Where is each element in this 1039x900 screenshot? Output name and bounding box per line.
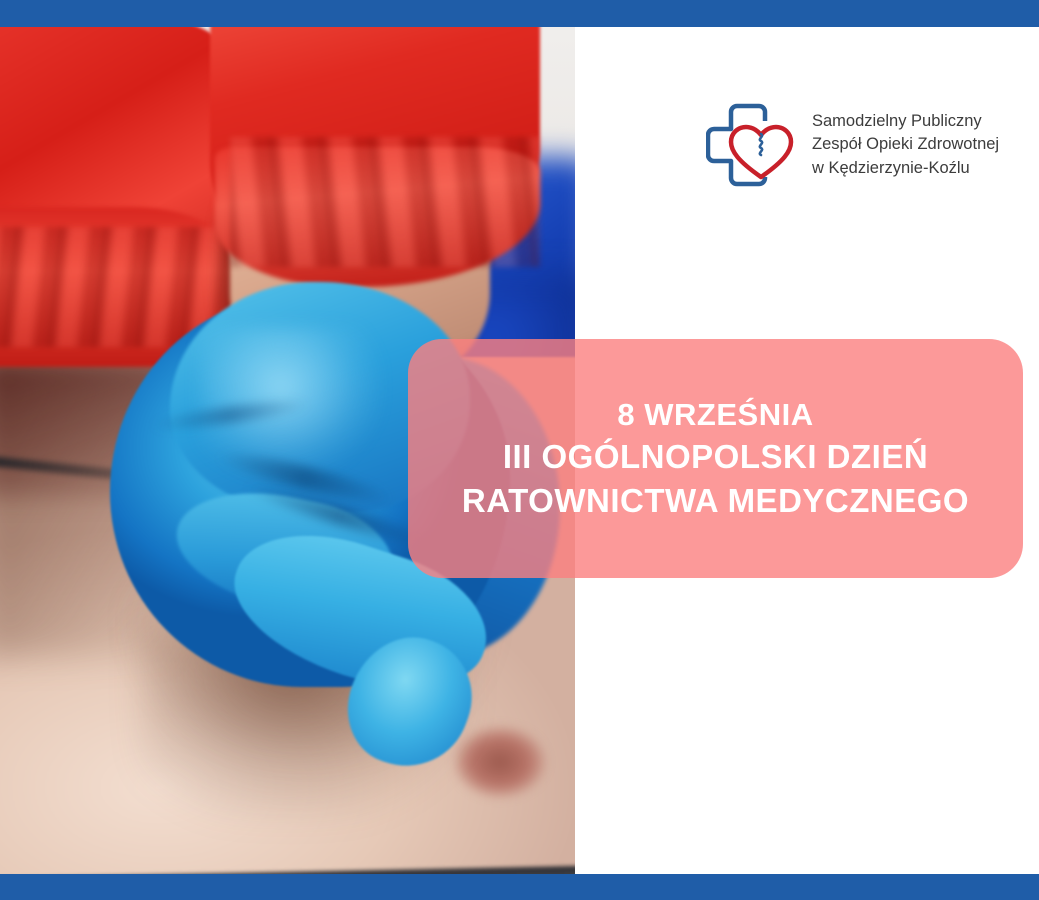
top-brand-bar: [0, 0, 1039, 27]
hospital-name-line-3: w Kędzierzynie-Koźlu: [812, 157, 999, 180]
hospital-name-line-1: Samodzielny Publiczny: [812, 110, 999, 133]
banner-title-line-1: III OGÓLNOPOLSKI DZIEŃ: [503, 440, 928, 475]
announcement-banner-text: 8 WRZEŚNIA III OGÓLNOPOLSKI DZIEŃ RATOWN…: [408, 339, 1023, 578]
cross-heart-caduceus-logo-icon: [706, 101, 798, 189]
hospital-logo-text: Samodzielny Publiczny Zespół Opieki Zdro…: [812, 110, 999, 180]
hospital-name-line-2: Zespół Opieki Zdrowotnej: [812, 133, 999, 156]
bottom-brand-bar: [0, 874, 1039, 900]
banner-title-line-2: RATOWNICTWA MEDYCZNEGO: [462, 484, 969, 519]
hospital-logo: Samodzielny Publiczny Zespół Opieki Zdro…: [706, 96, 1006, 194]
banner-date-line: 8 WRZEŚNIA: [617, 399, 813, 432]
photo-left-edge: [0, 587, 26, 874]
red-sleeve-folds-right: [230, 137, 540, 267]
poster-canvas: Samodzielny Publiczny Zespół Opieki Zdro…: [0, 0, 1039, 900]
